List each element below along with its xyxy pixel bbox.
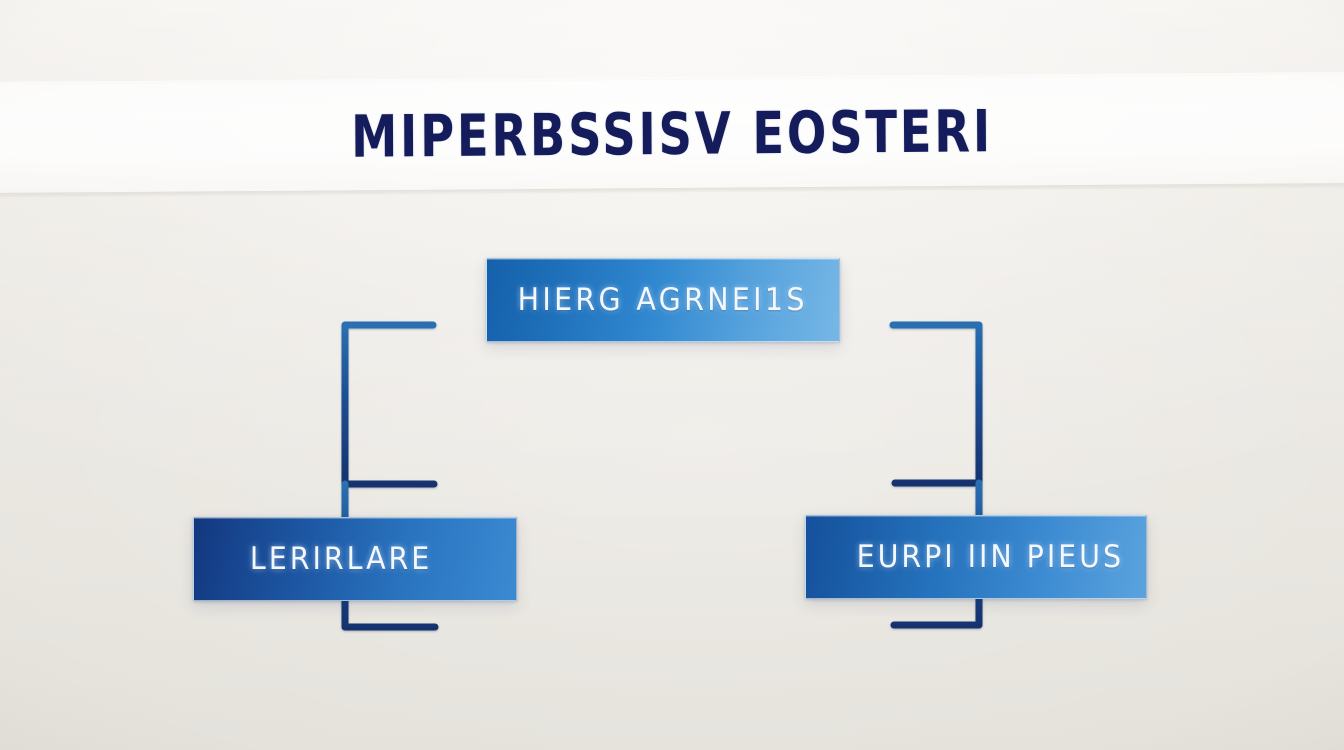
diagram-canvas: MIPERBSSISV EOSTERI: [0, 0, 1344, 750]
vignette-overlay: [0, 0, 1344, 750]
